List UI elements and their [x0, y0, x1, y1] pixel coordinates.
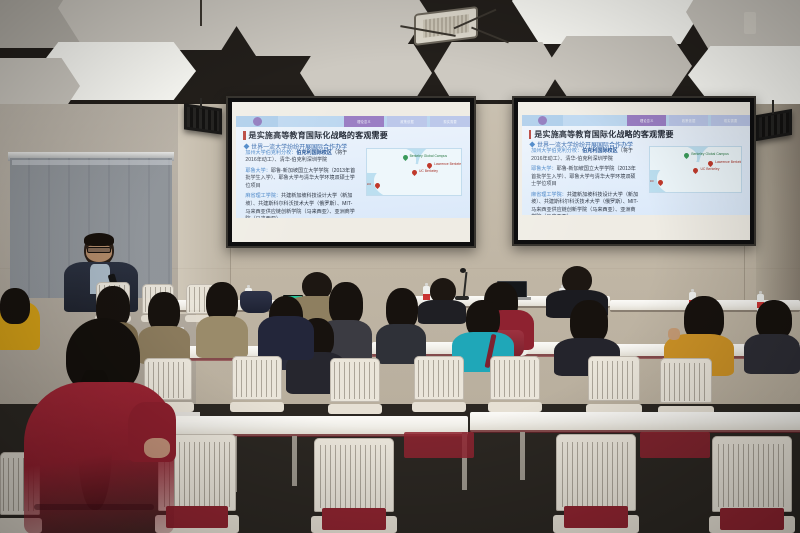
ceiling-panel — [686, 0, 800, 54]
ceiling-panel — [434, 42, 560, 100]
map-pin-label: Lawrence Berkeley National Lab — [434, 162, 462, 166]
chair-back — [556, 434, 636, 511]
bullet-key: 耶鲁大学： — [531, 166, 556, 172]
hand — [144, 438, 170, 458]
table-leg — [292, 436, 297, 486]
chair-slats — [236, 360, 278, 397]
chair-seat — [488, 402, 542, 412]
chair-cushion — [322, 508, 386, 530]
blinds-light-glow — [12, 160, 172, 165]
slide-title-row: 是实施高等教育国际化战略的客观需要 — [529, 129, 674, 140]
eyeglasses-icon — [87, 247, 111, 253]
map-pin-label: San Francisco — [649, 179, 654, 183]
slide-title-row: 是实施高等教育国际化战略的客观需要 — [243, 130, 388, 141]
logo-mark-icon — [253, 117, 262, 126]
speaker-grill — [759, 112, 789, 137]
speaker-wire — [772, 100, 774, 114]
chair-slats — [320, 445, 387, 507]
audience-member-mid-left-3 — [196, 282, 248, 352]
chair-back — [660, 358, 712, 403]
map-pin-label: UC Berkeley — [700, 167, 719, 171]
ceiling-panel — [546, 36, 692, 96]
slide-tab-1[interactable]: 政策依据 — [387, 116, 427, 127]
front-chair-2[interactable] — [314, 438, 394, 533]
ceiling-pipe — [200, 0, 202, 26]
front-chair-3[interactable] — [556, 434, 636, 533]
chair[interactable] — [490, 356, 540, 412]
map-pin-label: UC Berkeley — [419, 169, 438, 173]
audience-member-foreground-maroon — [24, 318, 174, 533]
slide-bullet-2: 麻省理工学院：共建新加坡科技设计大学（新加坡）、共建斯科尔科沃技术大学（俄罗斯）… — [245, 193, 355, 218]
ceiling-panel — [300, 44, 432, 102]
chair-slats — [592, 361, 636, 399]
title-accent-bar — [529, 130, 532, 139]
bullet-key: 加州大学伯克利分校： — [245, 150, 296, 156]
bullet-key: 耶鲁大学： — [245, 168, 270, 174]
slide-title: 是实施高等教育国际化战略的客观需要 — [534, 129, 673, 140]
chair[interactable] — [330, 358, 380, 414]
chair-seat — [230, 402, 284, 412]
title-accent-bar — [243, 131, 246, 140]
chair[interactable] — [232, 356, 282, 412]
audience-member-teal — [452, 300, 514, 360]
slide-tab-1[interactable]: 政策依据 — [669, 115, 708, 126]
audience-member-mid-right-dark — [554, 300, 620, 364]
audience-member-mid-navy — [258, 302, 314, 358]
torso — [744, 334, 800, 374]
slide-bullet-2: 麻省理工学院：共建新加坡科技设计大学（新加坡）、共建斯科尔科沃技术大学（俄罗斯）… — [531, 192, 638, 215]
lecture-hall-photo: 理论意义 政策依据 现实需要 是实施高等教育国际化战略的客观需要 ◆ 世界一流大… — [0, 0, 800, 533]
audience-member-mustard — [664, 296, 734, 366]
chair-back — [712, 436, 792, 512]
chair-back — [588, 356, 640, 401]
map-pin-label: San Francisco — [366, 182, 371, 186]
map-pin-label: Berkeley Global Campus — [691, 152, 729, 156]
presenter-hair — [84, 233, 114, 246]
bullet-key: 麻省理工学院： — [531, 192, 567, 198]
chair[interactable] — [588, 356, 640, 414]
left-screen-surface: 理论意义 政策依据 现实需要 是实施高等教育国际化战略的客观需要 ◆ 世界一流大… — [232, 102, 470, 242]
chair-cushion — [640, 432, 710, 458]
speaker-grill — [187, 107, 219, 131]
chair-back — [490, 356, 540, 400]
chair-seat — [328, 404, 382, 414]
map-pin-label: Berkeley Global Campus — [410, 154, 448, 158]
tabbar-spacer — [278, 116, 341, 127]
chair-back — [232, 356, 282, 400]
chair-cushion — [720, 508, 784, 530]
microphone-head-icon — [460, 268, 466, 273]
slide-right: 理论意义 政策依据 现实需要 是实施高等教育国际化战略的客观需要 ◆ 世界一流大… — [522, 115, 750, 215]
chair-slats — [664, 363, 708, 401]
chair-cushion — [166, 506, 228, 528]
wall-speaker-left — [184, 103, 222, 134]
left-projection-screen[interactable]: 理论意义 政策依据 现实需要 是实施高等教育国际化战略的客观需要 ◆ 世界一流大… — [226, 96, 476, 248]
chair-seat — [412, 402, 466, 412]
chair[interactable] — [414, 356, 464, 412]
speaker-wire — [200, 98, 202, 108]
chair-back — [414, 356, 464, 400]
chair-cushion — [564, 506, 628, 528]
chair-slats — [562, 442, 629, 507]
slide-bullet-list: 加州大学伯克利分校：伯克利国际校区（将于2016年动工）、清华-伯克利深圳学院 … — [531, 148, 638, 215]
map-pin-label: Lawrence Berkeley National Lab — [715, 160, 742, 164]
chair-slats — [334, 362, 376, 399]
right-screen-surface: 理论意义 政策依据 现实需要 是实施高等教育国际化战略的客观需要 ◆ 世界一流大… — [518, 102, 750, 240]
slide-bullet-1: 耶鲁大学：耶鲁-新加坡国立大学学院（2013年首批学生入学）、耶鲁大学与清华大学… — [245, 168, 355, 191]
chair[interactable] — [660, 358, 712, 416]
tabbar-spacer — [563, 115, 624, 126]
audience-member-far-right — [744, 300, 800, 362]
chair-slats — [418, 360, 460, 397]
slide-tab-0[interactable]: 理论意义 — [344, 116, 384, 127]
slide-map-image: Berkeley Global Campus Lawrence Berkeley… — [649, 146, 742, 193]
slide-logo — [236, 116, 278, 127]
front-table-right — [470, 412, 800, 432]
torso — [258, 316, 314, 360]
bullet-highlight: 伯克利国际校区 — [296, 150, 332, 156]
slide-bullet-0: 加州大学伯克利分校：伯克利国际校区（将于2016年动工）、清华-伯克利深圳学院 — [531, 148, 638, 163]
chair-cushion — [404, 432, 474, 458]
hand — [668, 328, 680, 340]
slide-bullet-0: 加州大学伯克利分校：伯克利国际校区（将于2016年动工）、清华-伯克利深圳学院 — [245, 150, 355, 165]
slide-logo — [522, 115, 563, 126]
chair-slats — [494, 360, 536, 397]
logo-mark-icon — [538, 116, 547, 125]
chair-back — [330, 358, 380, 402]
slide-tab-bar: 理论意义 政策依据 现实需要 — [236, 116, 470, 127]
slide-tab-bar: 理论意义 政策依据 现实需要 — [522, 115, 750, 126]
bullet-key: 加州大学伯克利分校： — [531, 148, 582, 154]
chair-slats — [718, 444, 785, 508]
right-projection-screen[interactable]: 理论意义 政策依据 现实需要 是实施高等教育国际化战略的客观需要 ◆ 世界一流大… — [512, 96, 756, 246]
slide-map-image: Berkeley Global Campus Lawrence Berkeley… — [366, 148, 462, 196]
bullet-key: 麻省理工学院： — [245, 193, 281, 199]
torso — [196, 316, 248, 358]
slide-bullet-list: 加州大学伯克利分校：伯克利国际校区（将于2016年动工）、清华-伯克利深圳学院 … — [245, 150, 355, 218]
audience-member-mid-center-3 — [376, 288, 426, 358]
air-conditioner-unit — [414, 6, 478, 46]
ceiling-sensor — [744, 12, 756, 34]
jacket-belt — [34, 504, 154, 510]
front-chair-4[interactable] — [712, 436, 792, 533]
slide-title: 是实施高等教育国际化战略的客观需要 — [249, 130, 388, 141]
slide-tab-0[interactable]: 理论意义 — [627, 115, 666, 126]
slide-bullet-1: 耶鲁大学：耶鲁-新加坡国立大学学院（2013年首批学生入学）、耶鲁大学与清华大学… — [531, 166, 638, 189]
slide-tab-2[interactable]: 现实需要 — [711, 115, 750, 126]
slide-tab-2[interactable]: 现实需要 — [430, 116, 470, 127]
slide-left: 理论意义 政策依据 现实需要 是实施高等教育国际化战略的客观需要 ◆ 世界一流大… — [236, 116, 470, 218]
chair-back — [314, 438, 394, 512]
bullet-highlight: 伯克利国际校区 — [582, 148, 618, 154]
table-leg — [520, 432, 525, 480]
